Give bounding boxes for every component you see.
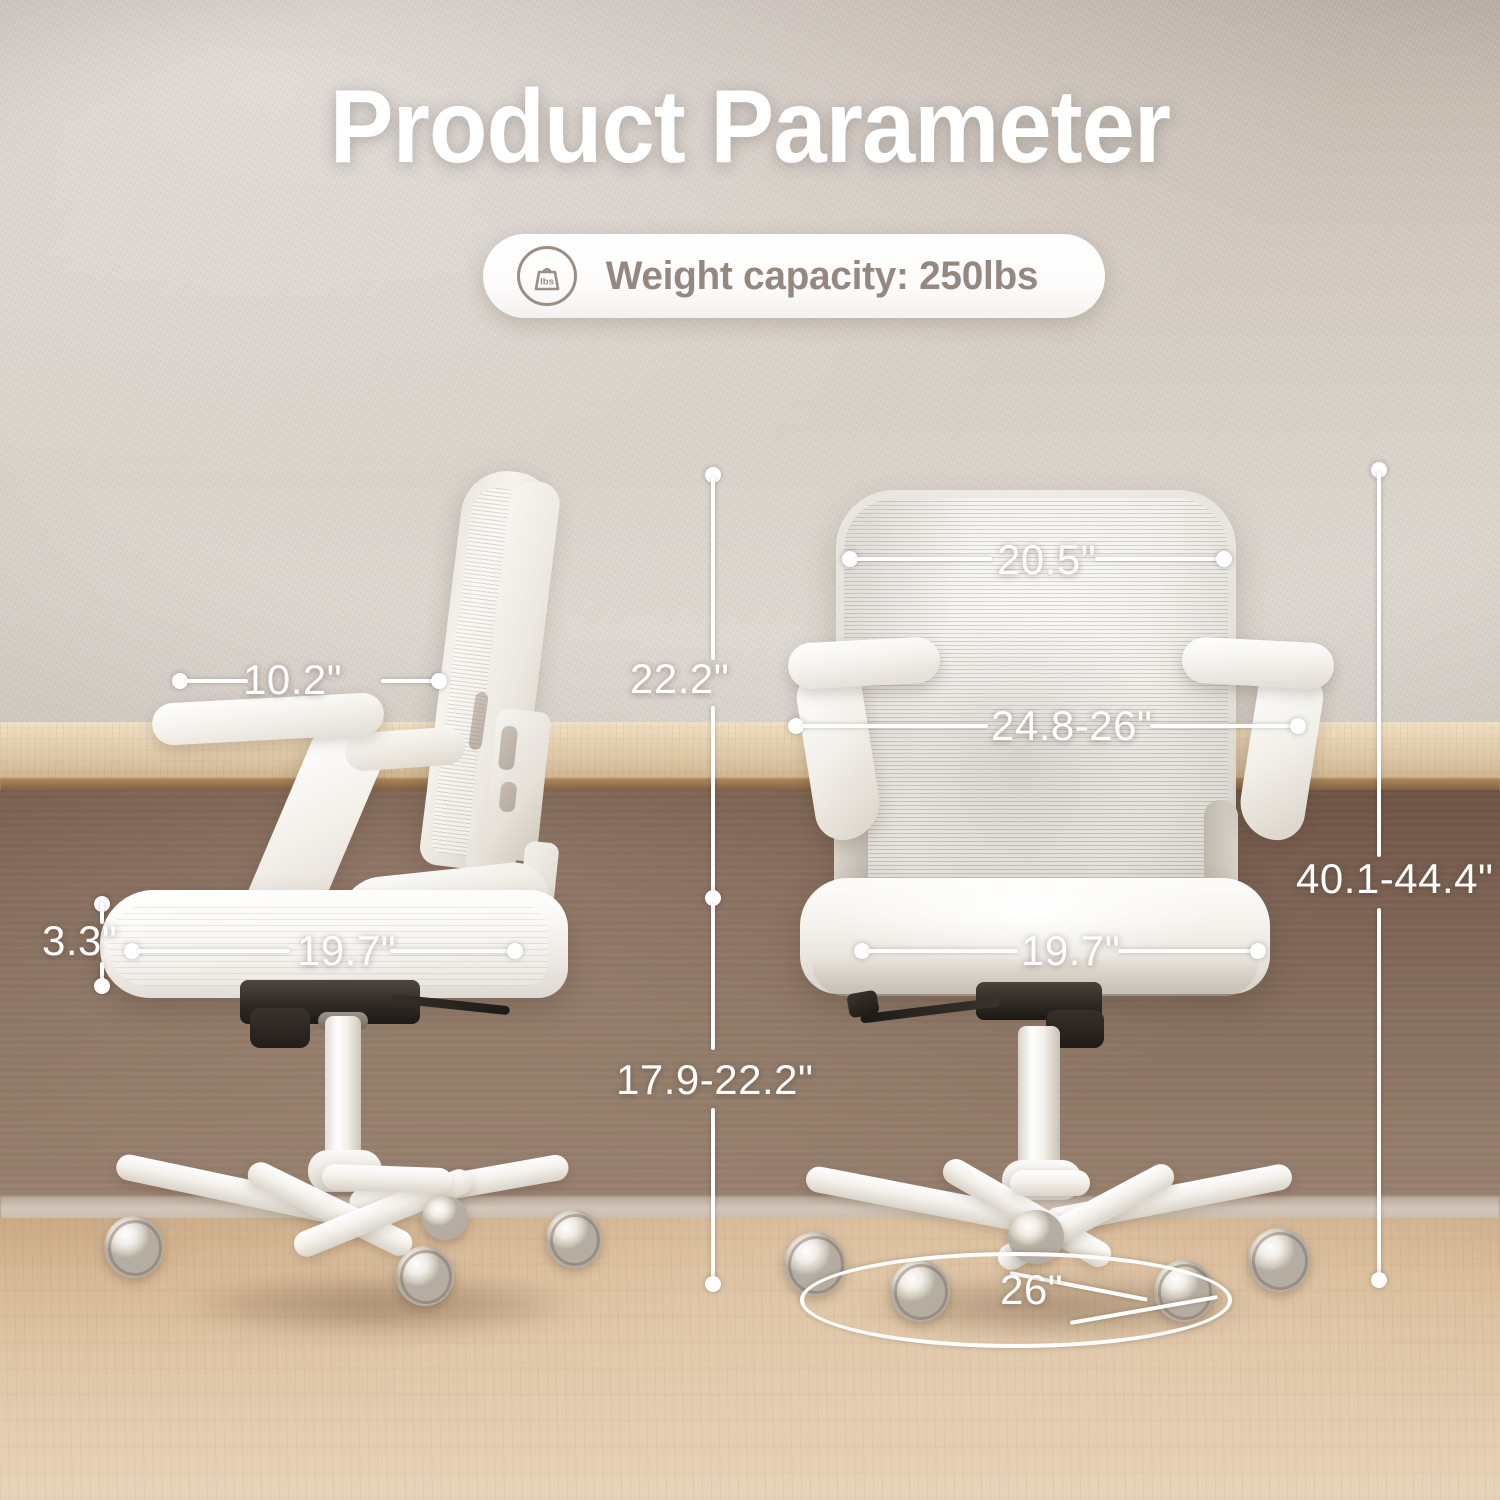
weight-capacity-badge: lbs Weight capacity: 250lbs bbox=[483, 234, 1105, 318]
front-caster-rim bbox=[894, 1264, 948, 1320]
product-parameter-infographic: 10.2" 22.2" 17.9-22.2" 3.3" 19.7" 20.5" bbox=[0, 0, 1500, 1500]
side-gas-cylinder bbox=[325, 1016, 361, 1166]
front-caster-rim bbox=[788, 1236, 844, 1294]
weight-lbs-icon: lbs bbox=[517, 246, 577, 306]
side-caster bbox=[422, 1196, 468, 1240]
front-caster bbox=[1008, 1210, 1064, 1264]
front-gas-cylinder bbox=[1018, 1026, 1060, 1176]
front-armrest-pad-right bbox=[1181, 636, 1335, 690]
side-seat-ribbing bbox=[108, 904, 548, 986]
front-armrest-pad-left bbox=[787, 636, 941, 690]
page-title: Product Parameter bbox=[60, 72, 1440, 182]
front-view-chair bbox=[770, 470, 1350, 1340]
svg-text:lbs: lbs bbox=[540, 277, 554, 288]
front-backrest-shading bbox=[844, 498, 1228, 914]
weight-capacity-label: Weight capacity: 250lbs bbox=[606, 254, 1038, 299]
side-tension-knob bbox=[250, 1008, 310, 1048]
front-caster-rim bbox=[1158, 1264, 1212, 1320]
front-caster-rim bbox=[1252, 1232, 1308, 1290]
side-base-leg bbox=[322, 1164, 453, 1195]
front-base-leg bbox=[1010, 1170, 1090, 1196]
side-caster-rim bbox=[400, 1250, 452, 1304]
side-caster-rim bbox=[108, 1220, 162, 1276]
front-armrest-post-right bbox=[1235, 666, 1327, 844]
side-view-chair bbox=[90, 460, 650, 1330]
side-caster-rim bbox=[550, 1214, 600, 1266]
